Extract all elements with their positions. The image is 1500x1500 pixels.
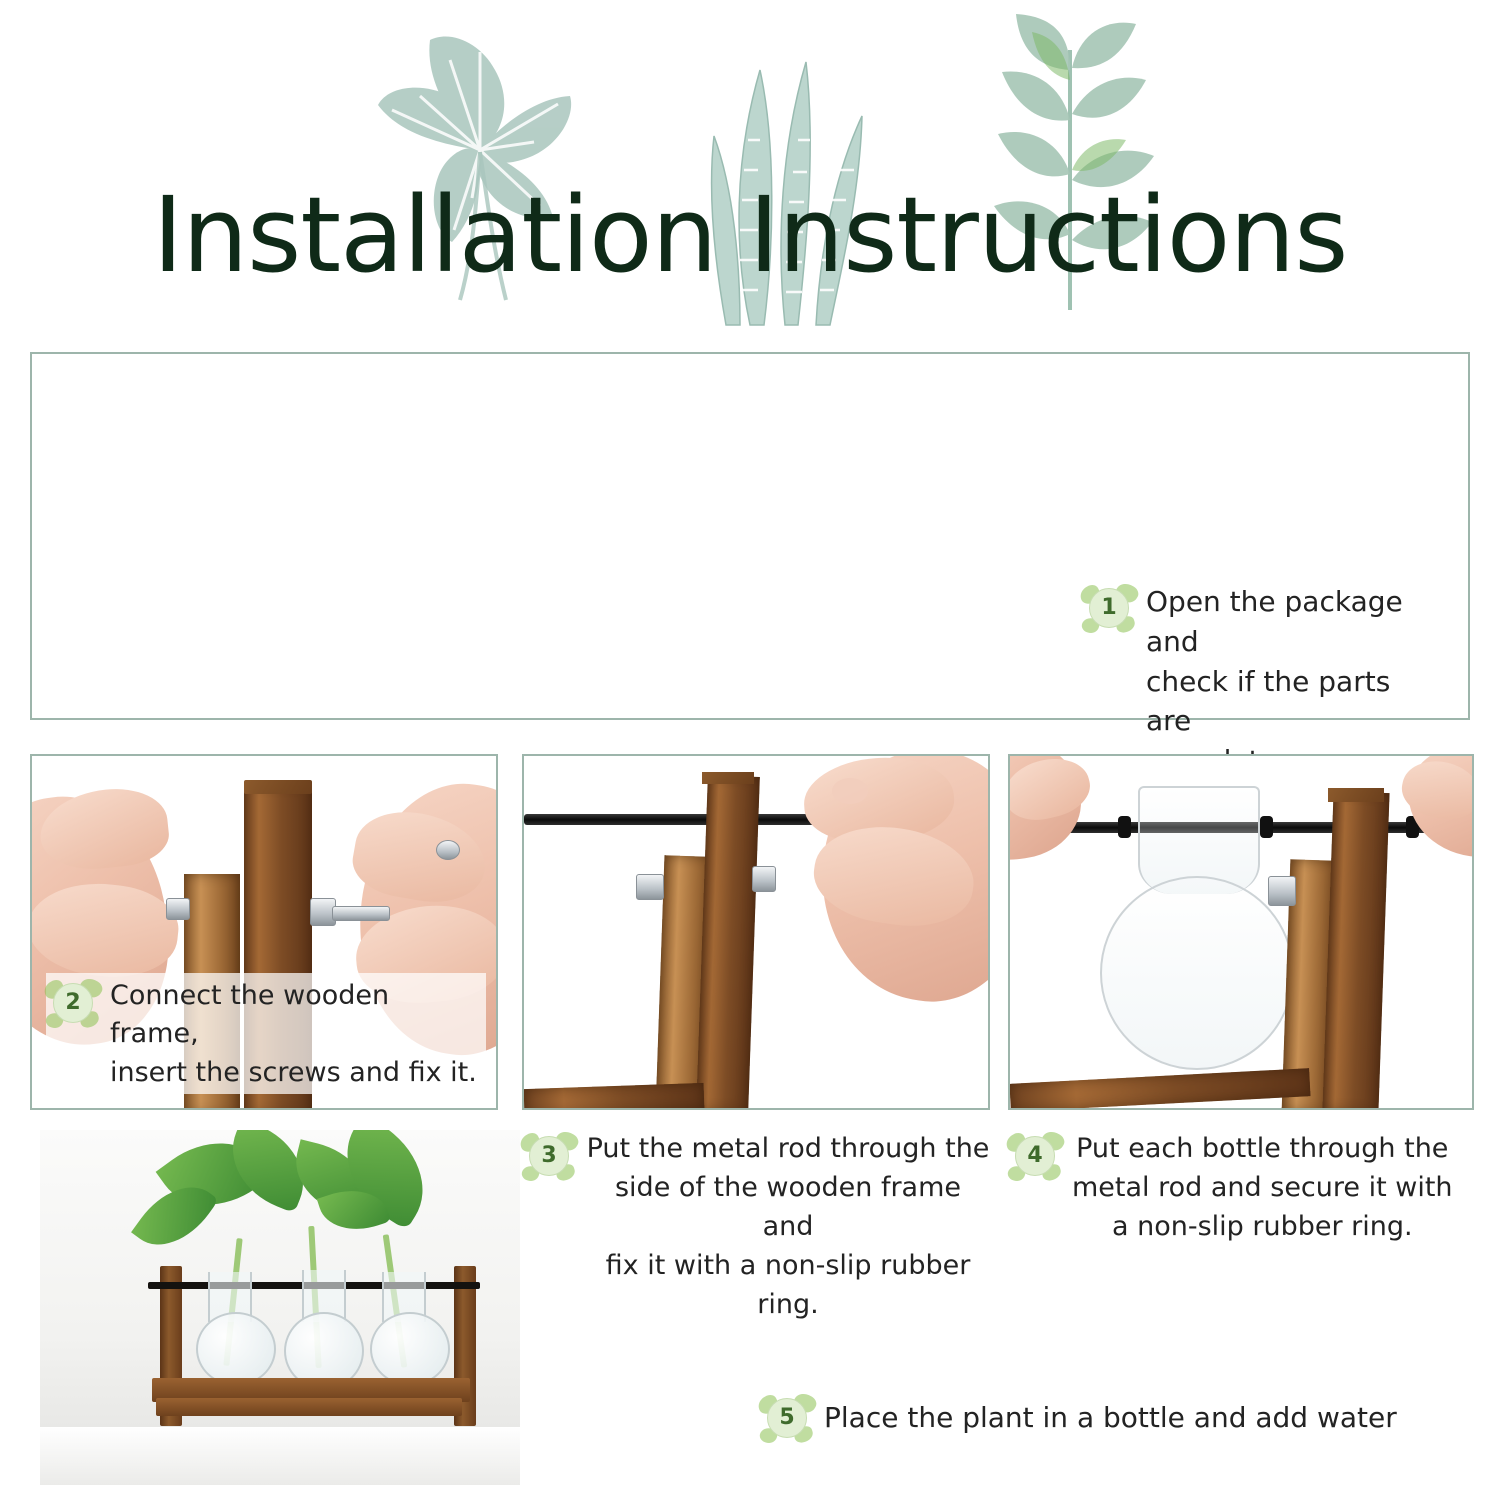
step-4-scene xyxy=(1010,756,1472,1108)
screw-shaft-right xyxy=(332,906,390,921)
table-surface xyxy=(40,1427,520,1485)
step-2-caption: 2 Connect the wooden frame, insert the s… xyxy=(46,973,486,1094)
wooden-leg-piece xyxy=(696,775,760,1108)
wooden-leg-top xyxy=(702,772,754,784)
glass-bottle-body xyxy=(1100,876,1294,1070)
rubber-ring-on-rod xyxy=(1118,816,1131,838)
screw-in-fingers xyxy=(436,840,460,860)
step-1-text: Open the package and check if the parts … xyxy=(1146,582,1442,781)
finished-product-photo xyxy=(40,1130,520,1485)
fingernail xyxy=(832,778,868,804)
step-5-caption: 5 Place the plant in a bottle and add wa… xyxy=(760,1392,1400,1444)
step-4-text: Put each bottle through the metal rod an… xyxy=(1072,1130,1453,1247)
screw-head-left xyxy=(166,898,190,920)
step-1-caption: 1 Open the package and check if the part… xyxy=(1082,582,1442,781)
step-3-caption: 3 Put the metal rod through the side of … xyxy=(522,1130,990,1324)
leaf-badge-icon: 3 xyxy=(522,1130,574,1182)
step-number: 5 xyxy=(779,1407,794,1429)
metal-rod xyxy=(524,814,854,825)
step-2-text: Connect the wooden frame, insert the scr… xyxy=(110,977,486,1092)
left-finger xyxy=(1010,756,1096,828)
step-2-photo-panel: 2 Connect the wooden frame, insert the s… xyxy=(30,754,498,1110)
step-3-scene xyxy=(524,756,988,1108)
screw-nut xyxy=(752,866,776,892)
wooden-leg-top xyxy=(1328,788,1384,802)
wooden-leg-piece xyxy=(1322,791,1389,1108)
wooden-leg-top xyxy=(244,780,312,794)
wooden-base-bar xyxy=(1010,1068,1311,1108)
screw-bolt xyxy=(636,874,664,900)
rubber-ring-on-rod xyxy=(1260,816,1273,838)
wooden-base-bar xyxy=(524,1083,704,1108)
step-number: 1 xyxy=(1101,597,1116,619)
step-number: 4 xyxy=(1027,1145,1042,1167)
step-number: 3 xyxy=(541,1145,556,1167)
step-4-caption: 4 Put each bottle through the metal rod … xyxy=(1008,1130,1474,1247)
leaf-badge-icon: 5 xyxy=(760,1392,812,1444)
leaf-badge-icon: 1 xyxy=(1082,582,1134,634)
step-5-text: Place the plant in a bottle and add wate… xyxy=(824,1398,1397,1438)
leaf-badge-icon: 4 xyxy=(1008,1130,1060,1182)
step-number: 2 xyxy=(65,992,80,1014)
glass-bulb-vase xyxy=(196,1312,276,1386)
glass-bulb-vase xyxy=(370,1312,450,1386)
step-3-photo-panel xyxy=(522,754,990,1110)
page-header: Installation Instructions xyxy=(0,0,1500,340)
screw-bolt xyxy=(1268,876,1296,906)
leaf-badge-icon: 2 xyxy=(46,977,98,1029)
stand-base-front xyxy=(156,1398,462,1416)
page-title: Installation Instructions xyxy=(0,174,1500,296)
step-4-photo-panel xyxy=(1008,754,1474,1110)
step-3-text: Put the metal rod through the side of th… xyxy=(586,1130,990,1324)
